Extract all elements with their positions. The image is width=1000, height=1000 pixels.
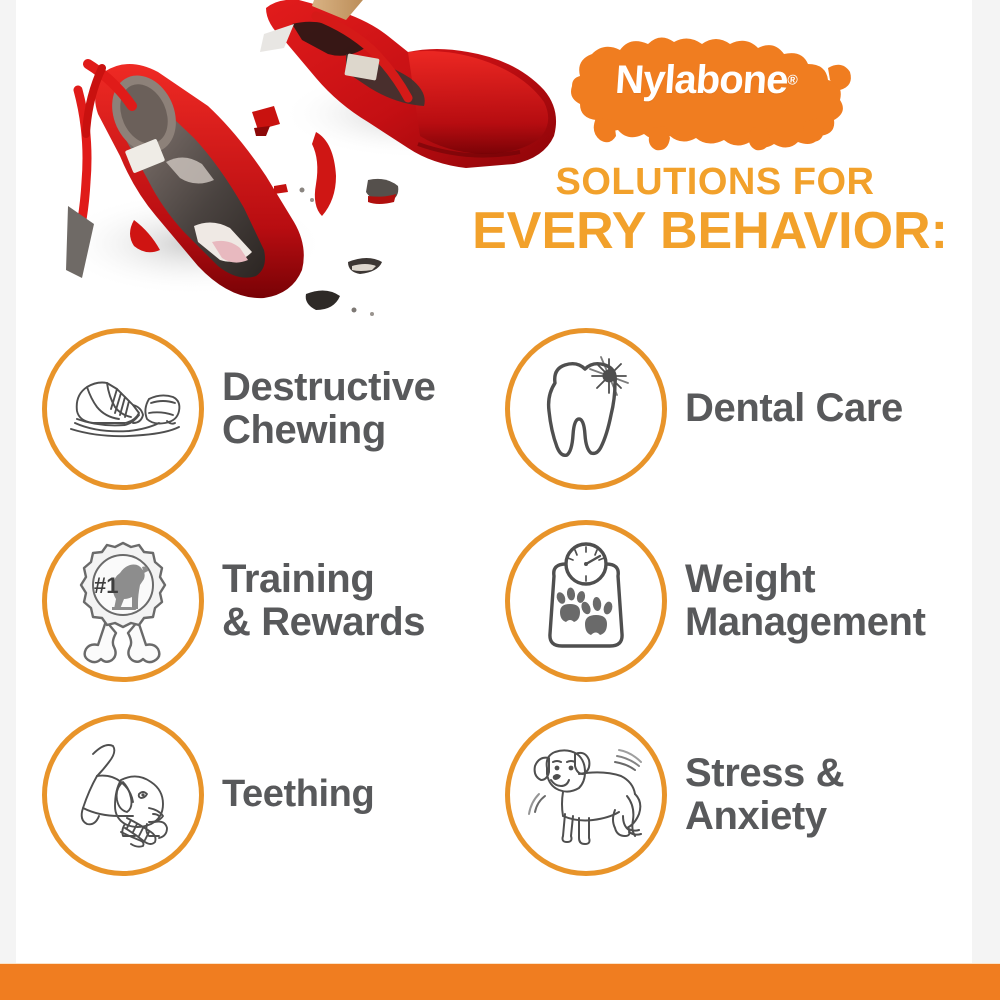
chewed-shoe-icon bbox=[63, 363, 183, 455]
feature-destructive-chewing[interactable]: Destructive Chewing bbox=[42, 324, 502, 494]
product-infographic: Nylabone® SOLUTIONS FOR EVERY BEHAVIOR: bbox=[0, 0, 1000, 1000]
feature-icon-circle bbox=[505, 520, 667, 682]
feature-icon-circle bbox=[505, 714, 667, 876]
feature-label: Destructive Chewing bbox=[222, 366, 435, 452]
puppy-chewing-toy-icon bbox=[63, 736, 183, 854]
feature-label: Stress & Anxiety bbox=[685, 752, 844, 838]
feature-weight-management[interactable]: Weight Management bbox=[505, 516, 985, 686]
destroyed-red-high-heel-shoes-photo bbox=[16, 0, 576, 324]
feature-label: Dental Care bbox=[685, 387, 903, 430]
feature-teething[interactable]: Teething bbox=[42, 710, 502, 880]
svg-text:#1: #1 bbox=[94, 573, 118, 598]
feature-icon-circle bbox=[42, 328, 204, 490]
feature-label: Training & Rewards bbox=[222, 558, 425, 644]
feature-training-rewards[interactable]: #1 Training & Rewards bbox=[42, 516, 502, 686]
feature-dental-care[interactable]: Dental Care bbox=[505, 324, 985, 494]
bathroom-scale-paw-prints-icon bbox=[530, 542, 642, 660]
feature-stress-anxiety[interactable]: Stress & Anxiety bbox=[505, 710, 985, 880]
feature-label: Weight Management bbox=[685, 558, 926, 644]
nylabone-brushstroke-logo: Nylabone® bbox=[556, 32, 856, 152]
feature-icon-circle: #1 bbox=[42, 520, 204, 682]
feature-label: Teething bbox=[222, 774, 374, 815]
anxious-trembling-dog-icon bbox=[523, 740, 649, 850]
award-rosette-dog-icon: #1 bbox=[68, 537, 178, 665]
feature-icon-circle bbox=[505, 328, 667, 490]
behavior-solutions-grid: Destructive Chewing bbox=[0, 318, 1000, 918]
sparkling-tooth-icon bbox=[531, 353, 641, 465]
footer-orange-bar bbox=[0, 964, 1000, 1000]
feature-icon-circle bbox=[42, 714, 204, 876]
headline-line-2: EVERY BEHAVIOR: bbox=[455, 205, 965, 257]
headline-line-1: SOLUTIONS FOR bbox=[470, 163, 960, 201]
